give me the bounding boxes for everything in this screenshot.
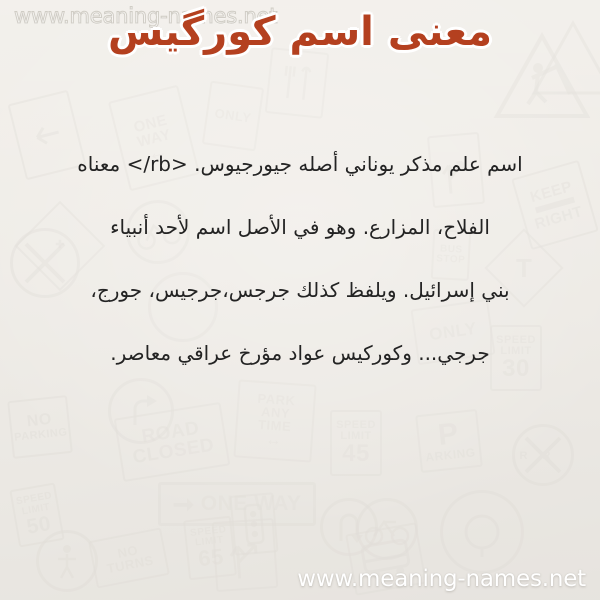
text-line: بني إسرائيل. ويلفظ كذلك جرجس،جرجيس، جورج…	[0, 278, 600, 302]
text-line: جرجي... وكوركيس عواد مؤرخ عراقي معاصر.	[0, 341, 600, 365]
name-meaning-text: اسم علم مذكر يوناني أصله جيورجيوس. <rb/>…	[0, 152, 600, 365]
text-line: اسم علم مذكر يوناني أصله جيورجيوس. <rb/>…	[0, 152, 600, 176]
image-canvas: ONE WAY ← ROADCLOSED ONE WAY ➞ PARKANYTI…	[0, 0, 600, 600]
text-line: الفلاح، المزارع. وهو في الأصل اسم لأحد أ…	[0, 215, 600, 239]
page-title: معنى اسم كورگيس	[0, 6, 600, 58]
watermark-bottom-right: www.meaning-names.net	[297, 566, 586, 592]
